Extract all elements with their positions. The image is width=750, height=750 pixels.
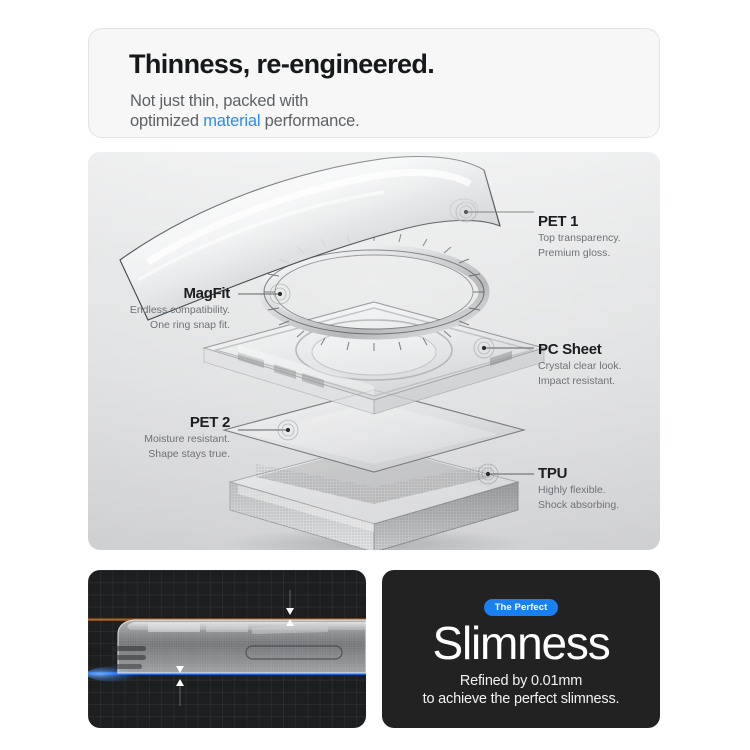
- label-tpu-desc-2: Shock absorbing.: [538, 499, 619, 512]
- page-title: Thinness, re-engineered.: [129, 49, 434, 80]
- label-pc-sheet-desc-2: Impact resistant.: [538, 375, 621, 388]
- subtitle-line-1: Not just thin, packed with: [130, 91, 360, 111]
- header-card: Thinness, re-engineered. Not just thin, …: [88, 28, 660, 138]
- xray-cross-section-panel: [88, 570, 366, 728]
- label-pet2-desc-2: Shape stays true.: [40, 448, 230, 461]
- label-magfit-desc-1: Endless compatibility.: [40, 304, 230, 317]
- label-pet1-desc-2: Premium gloss.: [538, 247, 621, 260]
- label-tpu-desc-1: Highly flexible.: [538, 484, 619, 497]
- label-tpu: TPU Highly flexible. Shock absorbing.: [538, 465, 619, 511]
- subtitle-line-2: optimized material performance.: [130, 111, 360, 131]
- label-pc-sheet: PC Sheet Crystal clear look. Impact resi…: [538, 341, 621, 387]
- label-pet1: PET 1 Top transparency. Premium gloss.: [538, 213, 621, 259]
- xray-case-illustration: [88, 570, 366, 728]
- label-pet1-title: PET 1: [538, 213, 621, 230]
- label-pet2-desc-1: Moisture resistant.: [40, 433, 230, 446]
- slimness-title: Slimness: [432, 618, 609, 668]
- label-pet1-desc-1: Top transparency.: [538, 232, 621, 245]
- label-pc-sheet-desc-1: Crystal clear look.: [538, 360, 621, 373]
- subtitle-pre: optimized: [130, 112, 203, 130]
- label-pc-sheet-title: PC Sheet: [538, 341, 621, 358]
- page-subtitle: Not just thin, packed with optimized mat…: [130, 91, 360, 131]
- label-pet2: PET 2 Moisture resistant. Shape stays tr…: [40, 414, 230, 460]
- slimness-sub-line-2: to achieve the perfect slimness.: [423, 690, 620, 708]
- subtitle-accent-word: material: [203, 112, 260, 130]
- label-magfit-title: MagFit: [40, 285, 230, 302]
- label-magfit: MagFit Endless compatibility. One ring s…: [40, 285, 230, 331]
- status-badge: The Perfect: [484, 599, 559, 616]
- slimness-sub-line-1: Refined by 0.01mm: [423, 672, 620, 690]
- subtitle-post: performance.: [260, 112, 359, 130]
- label-magfit-desc-2: One ring snap fit.: [40, 319, 230, 332]
- label-pet2-title: PET 2: [40, 414, 230, 431]
- slimness-panel: The Perfect Slimness Refined by 0.01mm t…: [382, 570, 660, 728]
- slimness-subtitle: Refined by 0.01mm to achieve the perfect…: [423, 672, 620, 708]
- label-tpu-title: TPU: [538, 465, 619, 482]
